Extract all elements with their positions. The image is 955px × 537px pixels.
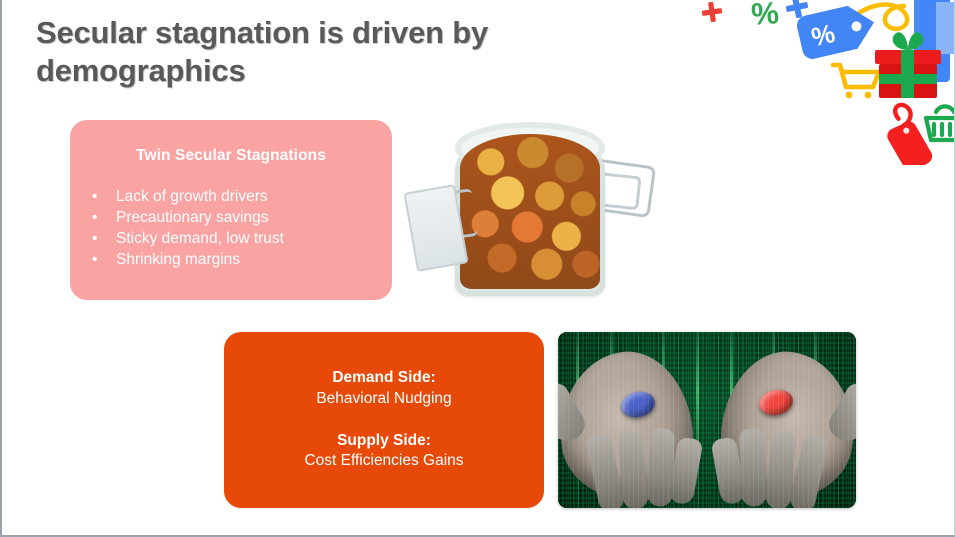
blue-rect-dark <box>920 0 950 82</box>
pink-card-bullet-list: • Lack of growth drivers • Precautionary… <box>70 187 392 271</box>
twin-secular-stagnations-card: Twin Secular Stagnations • Lack of growt… <box>70 120 392 300</box>
demand-supply-side-card: Demand Side: Behavioral Nudging Supply S… <box>224 332 544 508</box>
right-thumb <box>824 380 856 448</box>
supply-side-label: Supply Side: <box>304 431 463 452</box>
svg-text:%: % <box>808 18 837 52</box>
list-item-label: Lack of growth drivers <box>116 188 268 205</box>
shopping-basket-green-icon <box>926 106 955 140</box>
coin-jar-image <box>400 118 660 303</box>
demand-side-label: Demand Side: <box>316 368 451 389</box>
list-item: • Lack of growth drivers <box>92 187 392 208</box>
page-title: Secular stagnation is driven by demograp… <box>36 14 656 91</box>
coins-pile <box>460 134 600 289</box>
bullet-dot-icon: • <box>92 187 97 208</box>
list-item-label: Shrinking margins <box>116 251 240 268</box>
bullet-dot-icon: • <box>92 208 97 229</box>
pink-card-heading: Twin Secular Stagnations <box>70 147 392 165</box>
price-tag-red-icon <box>884 104 937 165</box>
gift-ribbon-icon <box>875 50 941 64</box>
left-thumb <box>558 380 590 448</box>
blue-rounded-shape <box>914 0 936 96</box>
supply-side-group: Supply Side: Cost Efficiencies Gains <box>304 431 463 473</box>
supply-side-value: Cost Efficiencies Gains <box>304 451 463 472</box>
percent-green-icon: % <box>750 0 780 32</box>
gift-bow-icon <box>893 32 924 50</box>
list-item-label: Precautionary savings <box>116 209 269 226</box>
bullet-dot-icon: • <box>92 229 97 250</box>
plus-red-icon <box>701 1 724 24</box>
bullet-dot-icon: • <box>92 250 97 271</box>
plus-blue-icon <box>784 0 810 20</box>
decorative-corner-graphics: % % <box>692 0 955 165</box>
list-item: • Sticky demand, low trust <box>92 229 392 250</box>
slide-canvas: Secular stagnation is driven by demograp… <box>0 0 955 537</box>
blue-rect-light <box>930 2 955 54</box>
list-item-label: Sticky demand, low trust <box>116 230 284 247</box>
string-curl-yellow-icon <box>844 5 907 29</box>
matrix-streak <box>696 332 699 508</box>
finger <box>617 431 649 508</box>
demand-side-value: Behavioral Nudging <box>316 389 451 410</box>
demand-side-group: Demand Side: Behavioral Nudging <box>316 368 451 410</box>
gift-box-icon <box>875 32 941 98</box>
price-tag-blue-percent-icon: % <box>795 1 879 61</box>
shopping-cart-yellow-icon <box>833 65 879 98</box>
red-pill-blue-pill-image <box>558 332 856 508</box>
list-item: • Shrinking margins <box>92 250 392 271</box>
list-item: • Precautionary savings <box>92 208 392 229</box>
